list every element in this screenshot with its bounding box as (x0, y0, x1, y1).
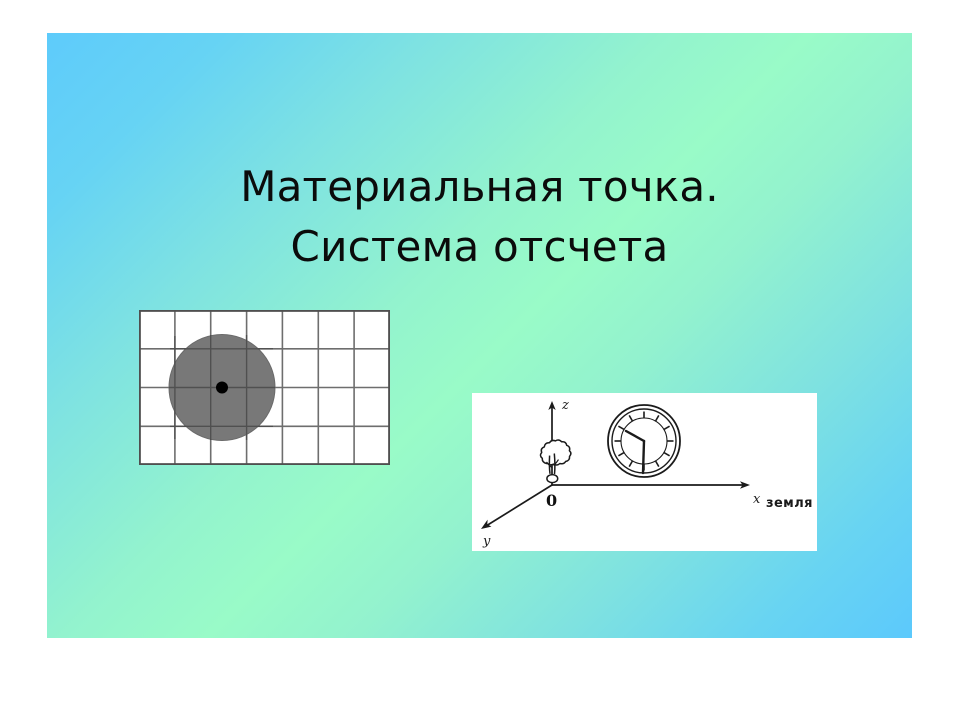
material-point-dot (216, 382, 228, 394)
frame-figure-svg: z x y 0 земля (472, 393, 817, 551)
slide-canvas: Материальная точка. Система отсчета (47, 33, 912, 638)
grid-figure (139, 310, 390, 465)
earth-label: земля (766, 496, 813, 511)
axis-z-label: z (561, 398, 569, 413)
axis-x-label: x (753, 492, 761, 507)
page-title: Материальная точка. Система отсчета (47, 157, 912, 276)
clock-minute-hand (643, 441, 644, 473)
grid-figure-svg (139, 310, 390, 465)
axis-y-label: y (482, 534, 491, 549)
origin-label: 0 (546, 491, 557, 510)
frame-figure: z x y 0 земля (472, 393, 817, 551)
clock-icon (608, 405, 680, 477)
